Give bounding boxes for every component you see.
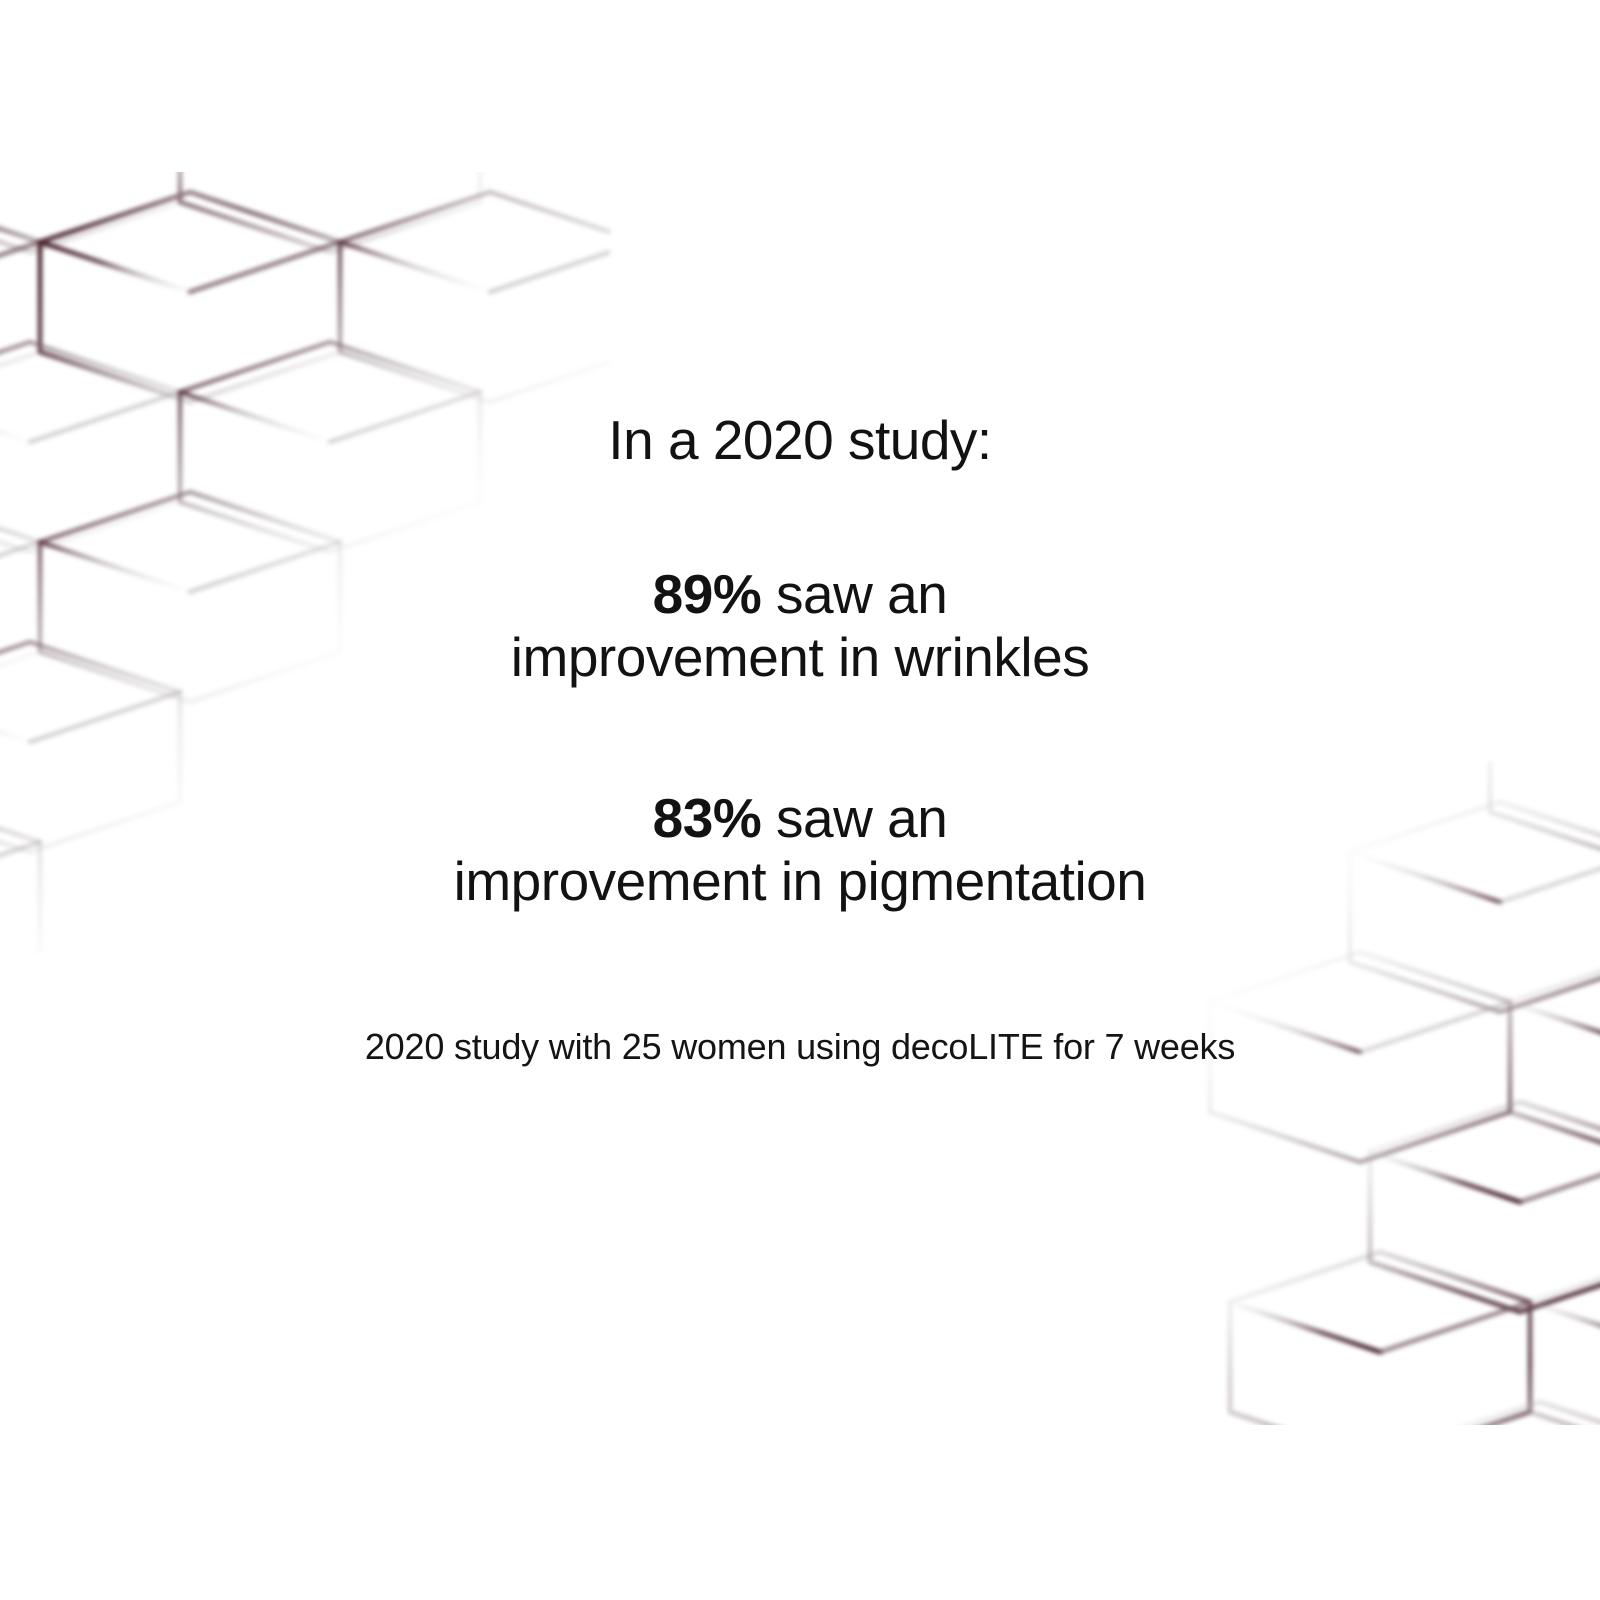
stat-block-pigmentation: 83% saw an improvement in pigmentation <box>454 787 1147 912</box>
stat-line-primary: 89% saw an <box>511 563 1089 626</box>
stat-suffix-pigmentation: saw an <box>761 787 947 849</box>
stat-line-secondary-pigmentation: improvement in pigmentation <box>454 850 1147 913</box>
slide-content: In a 2020 study: 89% saw an improvement … <box>0 0 1600 1600</box>
stat-block-wrinkles: 89% saw an improvement in wrinkles <box>511 563 1089 688</box>
stat-line-primary: 83% saw an <box>454 787 1147 850</box>
stat-suffix-wrinkles: saw an <box>761 563 947 625</box>
promo-slide: In a 2020 study: 89% saw an improvement … <box>0 0 1600 1600</box>
stat-value-pigmentation: 83% <box>653 787 762 849</box>
stat-line-secondary-wrinkles: improvement in wrinkles <box>511 626 1089 689</box>
study-footnote: 2020 study with 25 women using decoLITE … <box>365 1025 1235 1068</box>
stat-value-wrinkles: 89% <box>653 563 762 625</box>
headline-text: In a 2020 study: <box>608 410 991 472</box>
